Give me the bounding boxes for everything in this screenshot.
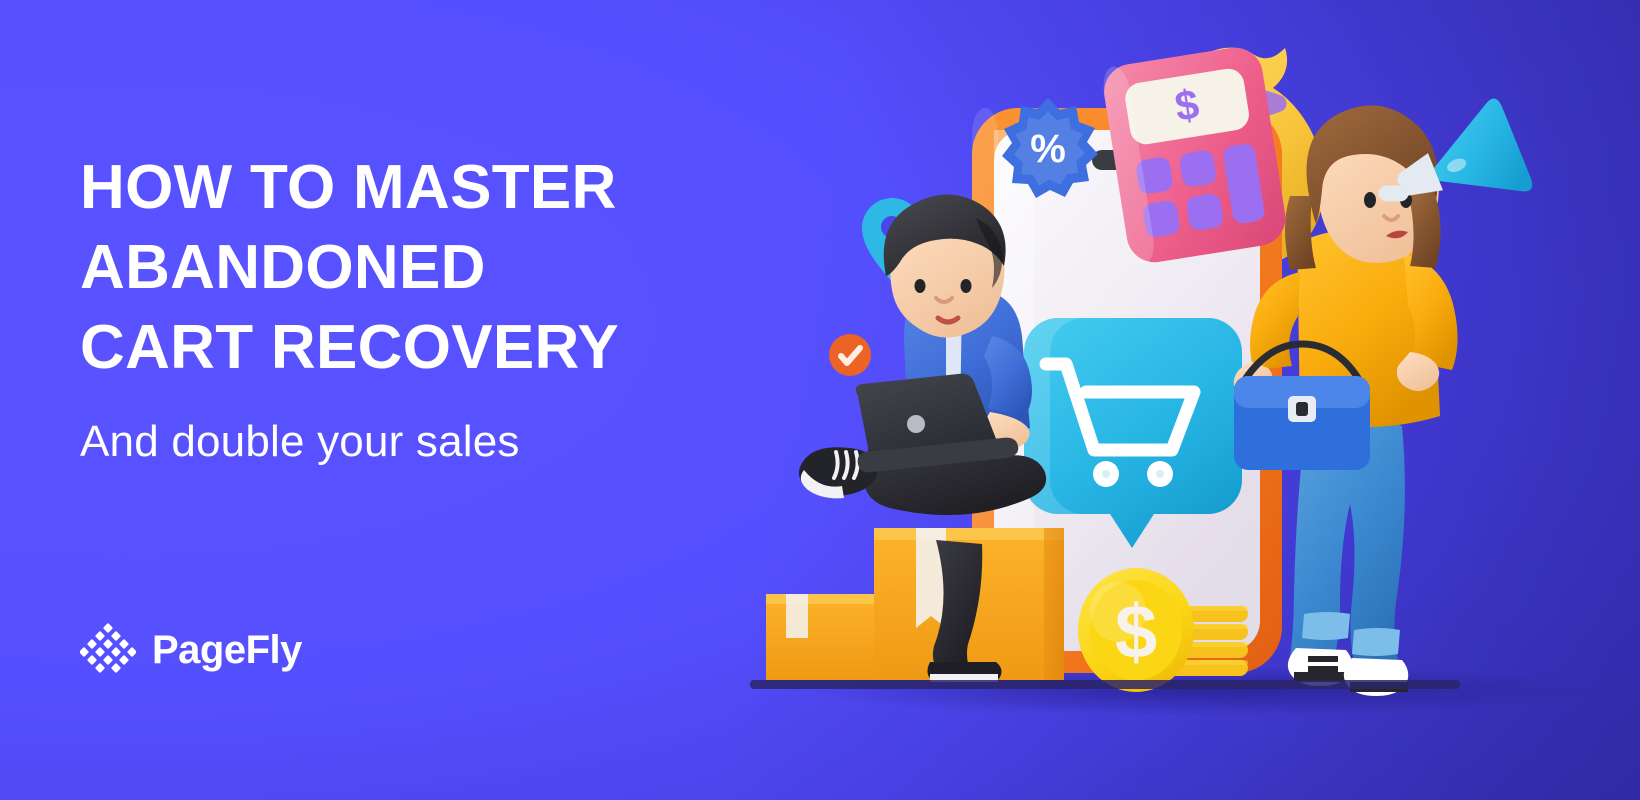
coin-dollar-label: $ — [1115, 590, 1157, 675]
promo-banner: HOW TO MASTER ABANDONED CART RECOVERY An… — [0, 0, 1640, 800]
eye-right — [961, 279, 972, 293]
pagefly-logo[interactable]: PageFly — [80, 622, 302, 678]
page-title: HOW TO MASTER ABANDONED CART RECOVERY — [80, 148, 720, 388]
pagefly-diamond-grid-icon — [80, 622, 136, 678]
logo-wordmark: PageFly — [152, 630, 302, 670]
jeans-cuff-right — [1352, 628, 1400, 656]
eye-left — [915, 279, 926, 293]
abandoned-cart-recovery-3d-scene: % $ — [740, 0, 1640, 800]
headline-line-1: HOW TO MASTER — [80, 148, 720, 228]
shopping-cart-bubble — [1024, 318, 1242, 548]
headline-line-2: ABANDONED — [80, 228, 720, 308]
delivery-box-small — [766, 594, 874, 680]
eye-left — [1364, 192, 1376, 208]
dollar-coin: $ — [1078, 568, 1194, 692]
head — [884, 194, 1006, 337]
calculator: $ — [1100, 44, 1289, 267]
ground-line — [750, 680, 1460, 689]
delivery-boxes — [766, 528, 1064, 680]
percent-label: % — [1030, 127, 1066, 171]
headline-line-3: CART RECOVERY — [80, 308, 720, 388]
check-badge-icon — [829, 334, 871, 376]
subtitle: And double your sales — [80, 416, 720, 469]
copy-block: HOW TO MASTER ABANDONED CART RECOVERY An… — [80, 148, 720, 469]
jeans-cuff-left — [1302, 612, 1350, 640]
